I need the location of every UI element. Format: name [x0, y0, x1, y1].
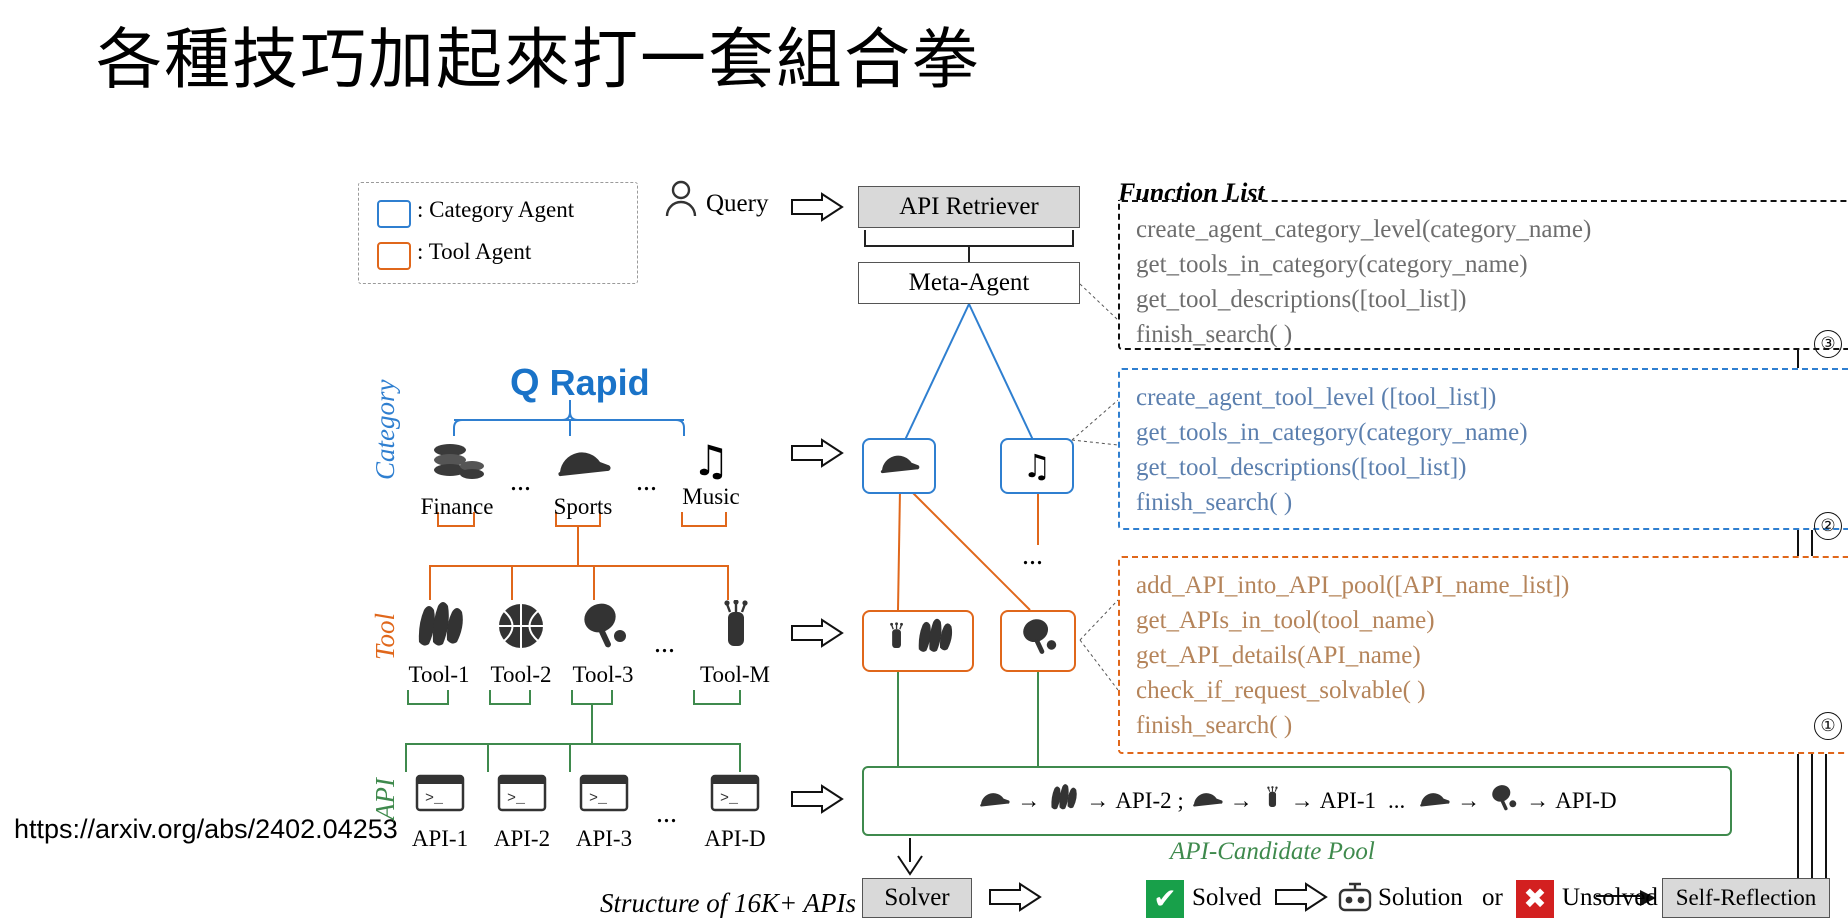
arxiv-link[interactable]: https://arxiv.org/abs/2402.04253 — [14, 812, 264, 846]
category-label-sports: Sports — [544, 494, 622, 520]
terminal-icon: >_ — [564, 772, 644, 826]
orange-square-icon — [377, 242, 411, 270]
tool-item-1: Tool-1 — [400, 600, 478, 688]
category-agent-sports[interactable] — [862, 438, 936, 494]
tool-label-2: Tool-2 — [482, 662, 560, 688]
terminal-icon: >_ — [400, 772, 480, 826]
blue-square-icon — [377, 200, 411, 228]
function-line: get_tool_descriptions([tool_list]) — [1136, 282, 1848, 317]
function-line: finish_search( ) — [1136, 317, 1848, 352]
cap-icon — [544, 438, 622, 494]
tool-agent-pingpong[interactable] — [1000, 610, 1076, 672]
solved-label: Solved — [1192, 884, 1261, 912]
robot-icon — [1336, 880, 1374, 921]
cap-icon — [876, 445, 922, 488]
api-ellipsis: ... — [656, 798, 677, 830]
svg-text:>_: >_ — [589, 790, 608, 807]
pool-arrow: → — [1457, 788, 1480, 814]
legend-label-tool-agent: : Tool Agent — [417, 239, 531, 265]
pool-text: API-2 ; — [1115, 788, 1183, 814]
coins-icon — [418, 438, 496, 494]
function-line: get_tools_in_category(category_name) — [1136, 415, 1848, 450]
bowling-icon — [912, 617, 956, 666]
person-icon — [664, 180, 698, 226]
solver-arrow-icon — [988, 882, 1042, 917]
tool-item-3: Tool-3 — [564, 600, 642, 688]
function-line: get_API_details(API_name) — [1136, 638, 1848, 673]
function-panel-category-level: create_agent_category_level(category_nam… — [1118, 200, 1848, 350]
api-item-3: >_ API-3 — [564, 772, 644, 852]
query-label: Query — [706, 190, 768, 218]
function-panel-api-level: add_API_into_API_pool([API_name_list]) g… — [1118, 556, 1848, 754]
cap-icon — [977, 785, 1011, 817]
legend-box: : Category Agent : Tool Agent — [358, 182, 638, 284]
cap-icon — [1417, 785, 1451, 817]
structure-caption: Structure of 16K+ APIs — [600, 888, 856, 919]
solved-arrow-icon — [1274, 882, 1328, 917]
tool-agent-golf-bowling[interactable] — [862, 610, 974, 672]
basketball-icon — [482, 600, 560, 662]
api-label-1: API-1 — [400, 826, 480, 852]
golf-bag-icon — [880, 617, 912, 666]
function-line: get_APIs_in_tool(tool_name) — [1136, 603, 1848, 638]
self-reflection-box[interactable]: Self-Reflection — [1662, 878, 1830, 918]
api-flow-arrow-icon — [790, 784, 844, 819]
music-note-icon: ♫ — [1023, 447, 1052, 485]
category-label-music: Music — [672, 484, 750, 510]
golf-bag-icon — [1259, 782, 1285, 820]
category-agent-music[interactable]: ♫ — [1000, 438, 1074, 494]
api-label-d: API-D — [690, 826, 780, 852]
api-candidate-pool-box: → → API-2 ; → → API-1 ... → → API-D — [862, 766, 1732, 836]
pool-arrow: → — [1230, 788, 1253, 814]
axis-label-tool: Tool — [370, 613, 401, 660]
function-line: finish_search( ) — [1136, 485, 1848, 520]
pool-arrow: → — [1291, 788, 1314, 814]
bowling-icon — [1046, 783, 1080, 819]
music-note-icon: ♫ — [672, 438, 750, 484]
rapid-logo: Q Rapid — [510, 362, 650, 405]
terminal-icon: >_ — [690, 772, 780, 826]
loop-marker-2: ② — [1814, 512, 1842, 540]
svg-text:>_: >_ — [720, 790, 739, 807]
pool-text: API-1 — [1320, 788, 1376, 814]
api-pool-caption: API-Candidate Pool — [1170, 838, 1375, 866]
tool-label-1: Tool-1 — [400, 662, 478, 688]
api-retriever-box[interactable]: API Retriever — [858, 186, 1080, 228]
category-item-finance: Finance — [418, 438, 496, 520]
legend-label-category-agent: : Category Agent — [417, 197, 574, 223]
category-item-sports: Sports — [544, 438, 622, 520]
x-icon: ✖ — [1516, 880, 1554, 918]
function-line: finish_search( ) — [1136, 708, 1848, 743]
svg-text:>_: >_ — [425, 790, 444, 807]
category-flow-arrow-icon — [790, 438, 844, 473]
function-line: create_agent_category_level(category_nam… — [1136, 212, 1848, 247]
category-ellipsis: ... — [510, 466, 531, 498]
category-item-music: ♫ Music — [672, 438, 750, 510]
function-line: add_API_into_API_pool([API_name_list]) — [1136, 568, 1848, 603]
svg-text:>_: >_ — [507, 790, 526, 807]
page-title: 各種技巧加起來打一套組合拳 — [96, 6, 980, 102]
cap-icon — [1190, 785, 1224, 817]
rapid-label: Rapid — [550, 362, 650, 403]
solution-label: Solution — [1378, 884, 1463, 912]
function-line: check_if_request_solvable( ) — [1136, 673, 1848, 708]
golf-bag-icon — [690, 600, 780, 662]
function-panel-tool-level: create_agent_tool_level ([tool_list]) ge… — [1118, 368, 1848, 530]
pingpong-icon — [564, 600, 642, 662]
category-agent-ellipsis: ... — [1022, 540, 1043, 572]
pingpong-icon — [1486, 783, 1520, 819]
pool-arrow: → — [1526, 788, 1549, 814]
api-item-2: >_ API-2 — [482, 772, 562, 852]
meta-agent-box[interactable]: Meta-Agent — [858, 262, 1080, 304]
api-label-3: API-3 — [564, 826, 644, 852]
rapid-mark-icon: Q — [510, 362, 540, 404]
function-line: get_tools_in_category(category_name) — [1136, 247, 1848, 282]
category-label-finance: Finance — [418, 494, 496, 520]
function-line: get_tool_descriptions([tool_list]) — [1136, 450, 1848, 485]
tool-flow-arrow-icon — [790, 618, 844, 653]
tool-label-m: Tool-M — [690, 662, 780, 688]
solver-box[interactable]: Solver — [862, 878, 972, 918]
check-icon: ✔ — [1146, 880, 1184, 918]
pool-arrow: → — [1017, 788, 1040, 814]
terminal-icon: >_ — [482, 772, 562, 826]
pool-text: API-D — [1555, 788, 1616, 814]
tool-ellipsis: ... — [654, 628, 675, 660]
tool-item-2: Tool-2 — [482, 600, 560, 688]
pool-ellipsis: ... — [1382, 788, 1411, 814]
query-arrow-icon — [790, 192, 844, 227]
bowling-icon — [400, 600, 478, 662]
category-ellipsis: ... — [636, 466, 657, 498]
tool-label-3: Tool-3 — [564, 662, 642, 688]
loop-marker-1: ① — [1814, 712, 1842, 740]
or-label: or — [1482, 884, 1503, 912]
tool-item-m: Tool-M — [690, 600, 780, 688]
axis-label-category: Category — [370, 380, 401, 481]
function-line: create_agent_tool_level ([tool_list]) — [1136, 380, 1848, 415]
loop-marker-3: ③ — [1814, 330, 1842, 358]
unsolved-label: Unsolved — [1562, 884, 1658, 912]
api-label-2: API-2 — [482, 826, 562, 852]
pingpong-icon — [1015, 616, 1061, 667]
api-item-1: >_ API-1 — [400, 772, 480, 852]
axis-label-api: API — [370, 778, 401, 820]
api-item-d: >_ API-D — [690, 772, 780, 852]
pool-arrow: → — [1086, 788, 1109, 814]
